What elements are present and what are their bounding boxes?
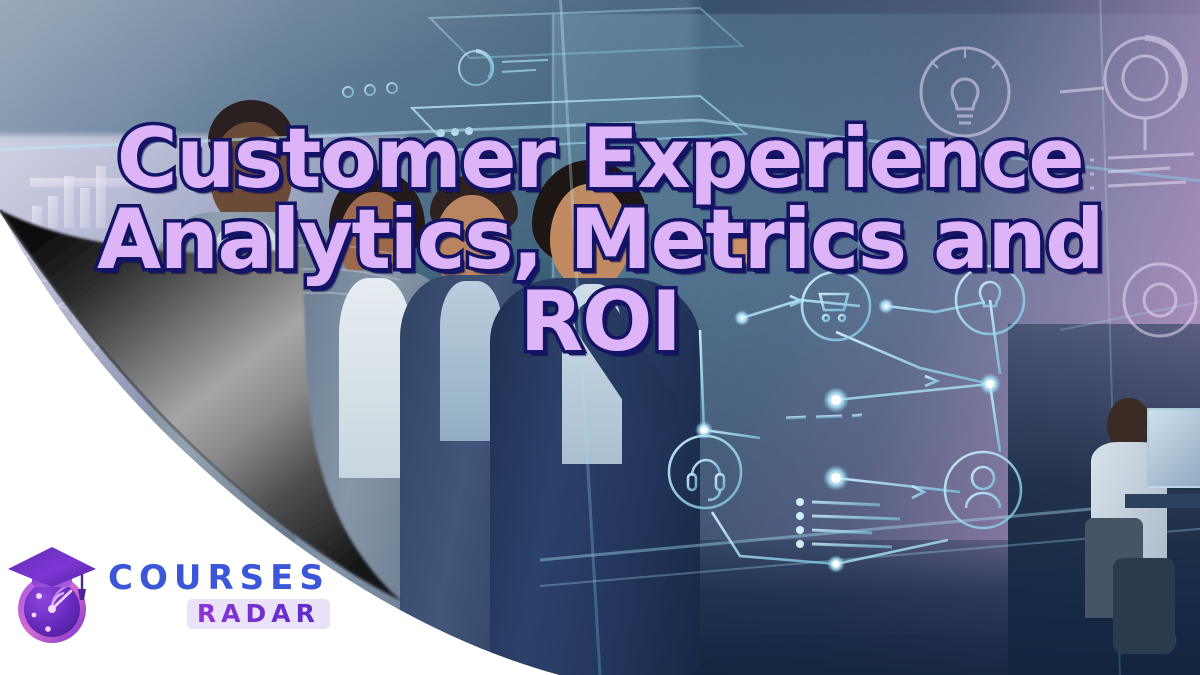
brand-logo[interactable]: COURSES RADAR — [8, 543, 330, 647]
logo-secondary-word: RADAR — [197, 601, 320, 626]
logo-wordmark: COURSES RADAR — [108, 561, 330, 629]
course-banner: Customer Experience Analytics, Metrics a… — [0, 0, 1200, 675]
person-glyph — [966, 467, 1000, 508]
person-at-desk — [1085, 398, 1195, 675]
browser-dots-top — [343, 83, 397, 97]
logo-primary-word: COURSES — [108, 561, 330, 595]
banner-title: Customer Experience Analytics, Metrics a… — [0, 118, 1200, 362]
headset-glyph — [688, 460, 724, 500]
legs — [1113, 558, 1175, 654]
graduation-cap-radar-logo-icon — [8, 543, 100, 647]
logo-secondary-pill: RADAR — [187, 599, 330, 629]
desk-monitor — [1147, 408, 1200, 488]
headset-icon — [669, 436, 741, 508]
desk-surface — [1125, 494, 1200, 508]
hud-bullets — [796, 498, 804, 548]
radar-center — [48, 605, 56, 613]
